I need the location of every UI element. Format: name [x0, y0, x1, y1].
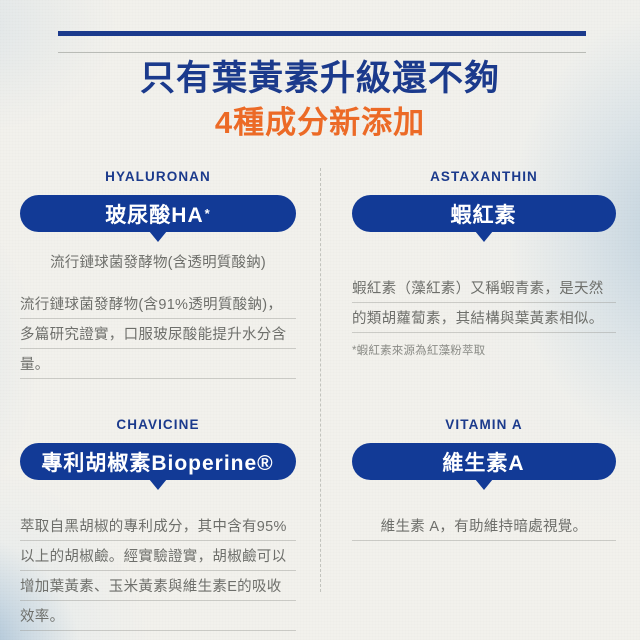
header-rule-blue — [58, 31, 586, 36]
ingredient-card-astaxanthin: ASTAXANTHIN 蝦紅素 蝦紅素（藻紅素）又稱蝦青素，是天然的類胡蘿蔔素，… — [320, 168, 640, 380]
ingredient-pill-tail — [475, 479, 493, 490]
ingredient-pill-wrap: 專利胡椒素Bioperine® — [20, 443, 296, 480]
ingredient-pill: 玻尿酸HA* — [20, 195, 296, 232]
ingredient-grid: HYALURONAN 玻尿酸HA* 流行鏈球菌發酵物(含透明質酸鈉) 流行鏈球菌… — [0, 168, 640, 632]
spacer — [20, 498, 296, 512]
ingredient-pill-wrap: 蝦紅素 — [352, 195, 616, 232]
headline-line-primary: 只有葉黃素升級還不夠 — [0, 56, 640, 101]
ingredient-pill: 蝦紅素 — [352, 195, 616, 232]
ingredient-pill-wrap: 玻尿酸HA* — [20, 195, 296, 232]
ingredient-card-chavicine: CHAVICINE 專利胡椒素Bioperine® 萃取自黑胡椒的專利成分，其中… — [0, 416, 320, 632]
spacer — [352, 498, 616, 512]
ingredient-row-bottom: CHAVICINE 專利胡椒素Bioperine® 萃取自黑胡椒的專利成分，其中… — [0, 416, 640, 632]
ingredient-eyebrow: CHAVICINE — [20, 416, 296, 434]
ingredient-pill-label: 玻尿酸HA — [105, 199, 203, 229]
ingredient-pill-label: 專利胡椒素Bioperine® — [41, 447, 273, 477]
ingredient-pill-tail — [149, 479, 167, 490]
ingredient-eyebrow: VITAMIN A — [352, 416, 616, 434]
ingredient-pill-tail — [149, 231, 167, 242]
ingredient-eyebrow: ASTAXANTHIN — [352, 168, 616, 186]
ingredient-body: 流行鏈球菌發酵物(含91%透明質酸鈉)，多篇研究證實，口服玻尿酸能提升水分含量。 — [20, 290, 296, 380]
ingredient-body: 蝦紅素（藻紅素）又稱蝦青素，是天然的類胡蘿蔔素，其結構與葉黃素相似。 — [352, 274, 616, 334]
ingredient-pill-tail — [475, 231, 493, 242]
ingredient-body: 萃取自黑胡椒的專利成分，其中含有95% 以上的胡椒鹼。經實驗證實，胡椒鹼可以增加… — [20, 512, 296, 632]
ingredient-pill-superscript: * — [205, 207, 211, 220]
ingredient-pill-label: 蝦紅素 — [451, 199, 517, 229]
ingredient-card-vitamin-a: VITAMIN A 維生素A 維生素 A，有助維持暗處視覺。 — [320, 416, 640, 632]
ingredient-row-top: HYALURONAN 玻尿酸HA* 流行鏈球菌發酵物(含透明質酸鈉) 流行鏈球菌… — [0, 168, 640, 380]
row-spacer — [0, 380, 640, 416]
ingredient-footnote: *蝦紅素來源為紅藻粉萃取 — [352, 342, 616, 360]
spacer — [352, 250, 616, 274]
ingredient-card-hyaluronan: HYALURONAN 玻尿酸HA* 流行鏈球菌發酵物(含透明質酸鈉) 流行鏈球菌… — [0, 168, 320, 380]
header-rule-gray — [58, 52, 586, 53]
headline-block: 只有葉黃素升級還不夠 4種成分新添加 — [0, 56, 640, 144]
ingredient-pill: 維生素A — [352, 443, 616, 480]
ingredient-pill-label: 維生素A — [442, 447, 524, 477]
headline-line-secondary: 4種成分新添加 — [0, 102, 640, 144]
ingredient-pill-wrap: 維生素A — [352, 443, 616, 480]
ingredient-lede: 流行鏈球菌發酵物(含透明質酸鈉) — [20, 250, 296, 276]
infographic-page: 只有葉黃素升級還不夠 4種成分新添加 HYALURONAN 玻尿酸HA* 流行鏈… — [0, 0, 640, 640]
ingredient-eyebrow: HYALURONAN — [20, 168, 296, 186]
ingredient-pill: 專利胡椒素Bioperine® — [20, 443, 296, 480]
ingredient-body: 維生素 A，有助維持暗處視覺。 — [352, 512, 616, 542]
